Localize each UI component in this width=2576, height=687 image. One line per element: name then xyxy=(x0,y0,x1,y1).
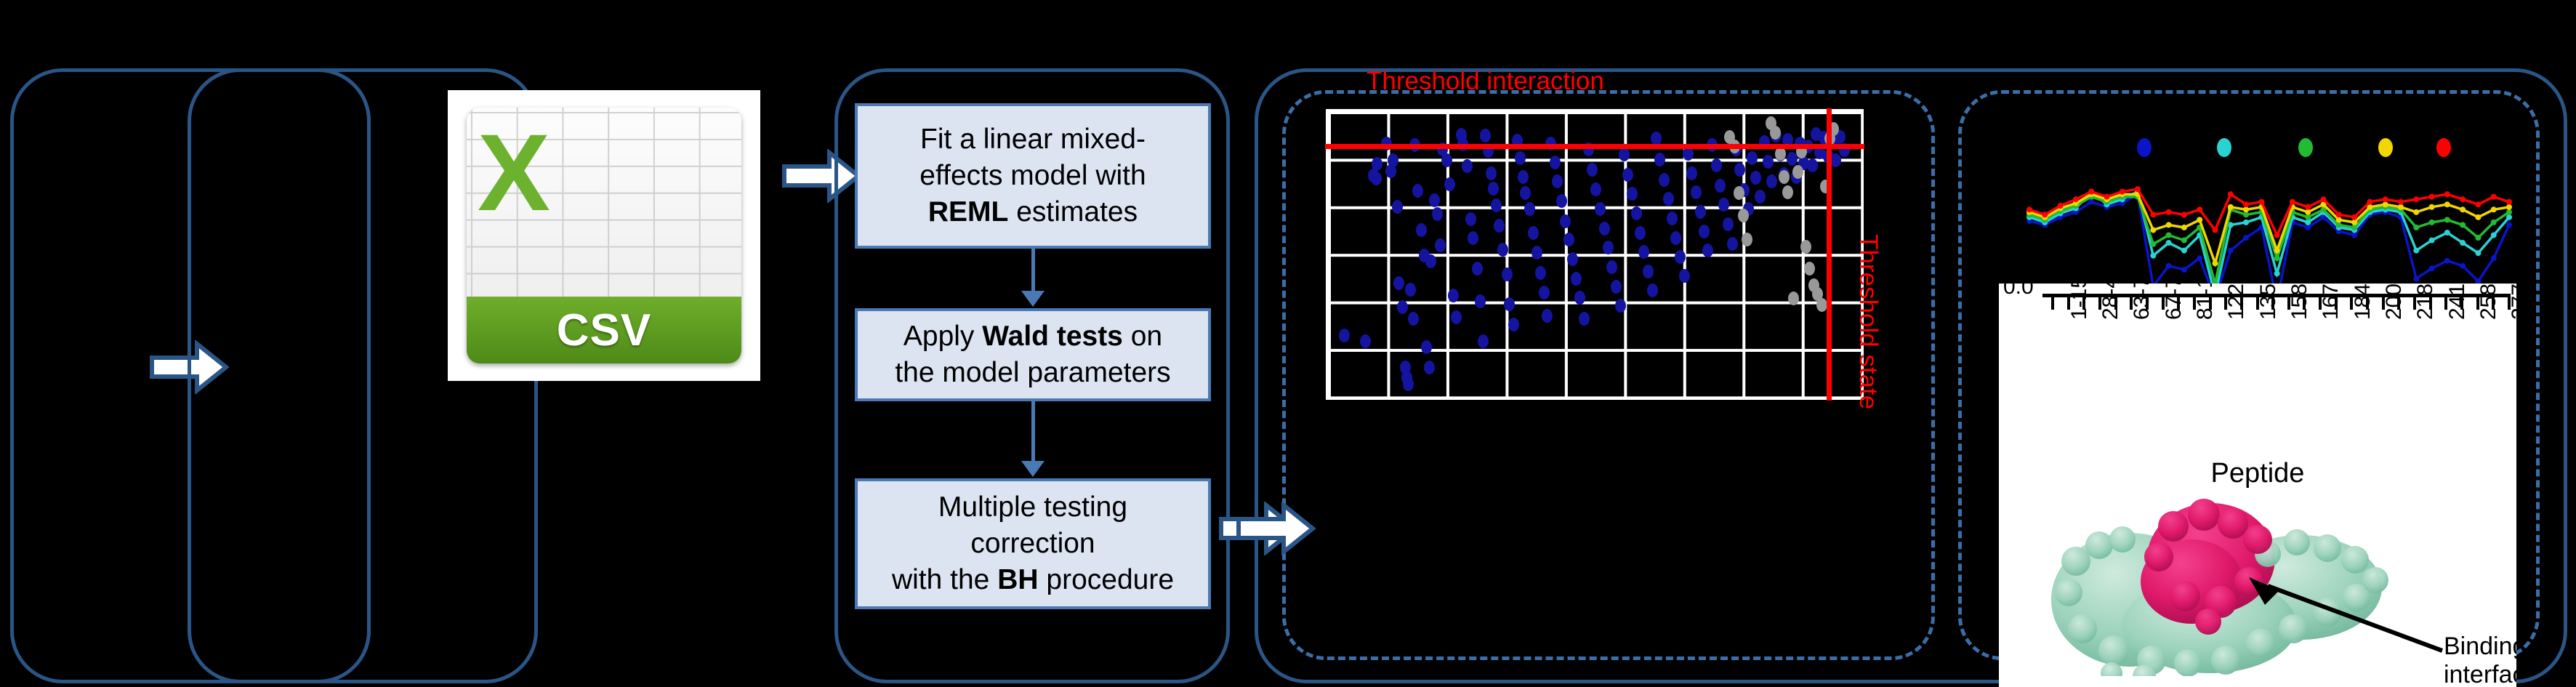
threshold-state-line xyxy=(1827,108,1832,401)
scatter-point xyxy=(1412,184,1423,198)
legend-dot-4 xyxy=(2378,138,2393,157)
scatter-point xyxy=(1542,309,1553,323)
line-marker xyxy=(2305,209,2311,215)
line-marker xyxy=(2274,270,2280,276)
scatter-point xyxy=(1491,198,1502,212)
scatter-point xyxy=(1788,292,1799,305)
scatter-point xyxy=(1502,268,1513,281)
step-fit-line1: Fit a linear mixed- xyxy=(920,124,1146,155)
line-marker xyxy=(2444,191,2450,197)
scatter-point xyxy=(1734,186,1744,200)
line-marker xyxy=(2181,248,2187,254)
line-marker xyxy=(2491,220,2497,225)
line-marker xyxy=(2243,220,2249,225)
scatter-point xyxy=(1468,231,1478,245)
scatter-point xyxy=(1830,153,1841,167)
binding-annot-line2: interface xyxy=(2444,661,2516,687)
x-axis-tick-labels: 1-1528-4463-7367-7581-101122-129135-1441… xyxy=(1999,284,2516,458)
scatter-point xyxy=(1747,151,1758,165)
line-marker xyxy=(2351,220,2357,225)
step-wald-bold: Wald tests xyxy=(982,321,1123,352)
line-marker xyxy=(2212,260,2218,266)
peptide-tick-label: 184-199 xyxy=(2351,284,2375,320)
arrow-4-icon xyxy=(1236,502,1316,555)
x-axis-title: Peptide xyxy=(1999,458,2516,489)
scatter-point xyxy=(1679,269,1690,283)
line-marker xyxy=(2491,232,2497,238)
scatter-point xyxy=(1497,243,1508,257)
scatter-point xyxy=(1635,226,1646,240)
legend-dot-5 xyxy=(2436,138,2451,157)
scatter-point xyxy=(1670,231,1681,245)
line-marker xyxy=(2444,230,2450,236)
scatter-point xyxy=(1429,193,1440,207)
step-mt-pre3: with the xyxy=(892,564,997,595)
scatter-point xyxy=(1779,170,1790,184)
line-marker xyxy=(2026,206,2032,212)
line-marker xyxy=(2166,240,2172,246)
scatter-point xyxy=(1702,244,1713,257)
peptide-tick-label: 200-214 xyxy=(2382,284,2407,320)
binding-interface-arrow-icon xyxy=(2239,574,2457,662)
line-marker xyxy=(2181,267,2187,273)
line-marker xyxy=(2088,199,2094,205)
scatter-point xyxy=(1638,245,1649,259)
connector-2 xyxy=(1031,401,1035,462)
line-marker xyxy=(2383,201,2388,207)
line-marker xyxy=(2413,276,2419,281)
peptide-tick-label: 241-257 xyxy=(2445,284,2470,320)
line-marker xyxy=(2429,238,2435,244)
threshold-interaction-line xyxy=(1325,144,1864,149)
scatter-point xyxy=(1486,166,1497,180)
line-marker xyxy=(2228,248,2234,254)
scatter-point xyxy=(1478,334,1489,348)
threshold-state-label: Threshold state xyxy=(1853,234,1883,409)
scatter-point xyxy=(1715,179,1726,193)
scatter-point xyxy=(1574,291,1585,305)
line-marker xyxy=(2383,196,2388,202)
peptide-tick-label: 158-166 xyxy=(2287,284,2312,320)
line-marker xyxy=(2429,204,2435,210)
scatter-point xyxy=(1448,289,1459,302)
scatter-point xyxy=(1603,241,1614,254)
step-mt-line1: Multiple testing xyxy=(938,491,1127,523)
scatter-point xyxy=(1734,163,1745,177)
scatter-point xyxy=(1686,166,1697,180)
scatter-point xyxy=(1631,206,1642,220)
scatter-point xyxy=(1339,329,1350,342)
step-wald-line2: the model parameters xyxy=(895,357,1170,388)
threshold-interaction-label: Threshold interaction xyxy=(1367,67,1604,96)
scatter-point xyxy=(1615,299,1626,313)
scatter-point xyxy=(1475,294,1486,308)
line-marker xyxy=(2460,263,2466,269)
line-marker xyxy=(2491,206,2497,212)
step-mt-post3: procedure xyxy=(1039,564,1174,595)
scatter-point xyxy=(1742,233,1752,246)
line-marker xyxy=(2197,206,2202,212)
scatter-point xyxy=(1667,212,1678,225)
scatter-point xyxy=(1528,226,1539,240)
line-marker xyxy=(2398,199,2404,205)
line-marker xyxy=(2429,220,2435,225)
line-marker xyxy=(2475,201,2481,207)
line-marker xyxy=(2460,240,2466,246)
peptide-tick-label: 277-284 xyxy=(2508,284,2516,320)
scatter-point xyxy=(1792,165,1803,179)
scatter-point xyxy=(1405,283,1416,297)
line-marker xyxy=(2429,265,2435,271)
peptide-tick-label: 122-129 xyxy=(2224,284,2249,320)
step-wald-post: on xyxy=(1123,321,1162,352)
peptide-tick-label: 1-15 xyxy=(2067,284,2092,320)
scatter-point xyxy=(1711,158,1722,172)
connector-2-arrowhead xyxy=(1021,461,1045,477)
line-marker xyxy=(2367,199,2372,205)
line-marker xyxy=(2212,227,2218,233)
scatter-point xyxy=(1647,284,1658,297)
line-marker xyxy=(2321,196,2327,202)
legend-dot-2 xyxy=(2217,138,2231,157)
scatter-point xyxy=(1462,159,1473,173)
peptide-tick-label: 258-266 xyxy=(2476,284,2501,320)
line-marker xyxy=(2506,199,2512,205)
line-marker xyxy=(2243,235,2249,241)
scatter-point xyxy=(1518,170,1529,184)
binding-interface-annotation: Binding interface xyxy=(2444,632,2516,687)
line-marker xyxy=(2181,238,2187,244)
line-marker xyxy=(2413,196,2419,202)
scatter-point xyxy=(1416,223,1427,237)
scatter-point xyxy=(1403,377,1414,391)
peptide-tick-label: 218-237 xyxy=(2413,284,2438,320)
peptide-tick-label: 81-101 xyxy=(2193,284,2218,320)
scatter-point xyxy=(1816,298,1827,312)
csv-file-icon: X CSV xyxy=(448,90,760,381)
line-marker xyxy=(2120,189,2125,195)
line-marker xyxy=(2305,220,2311,225)
scatter-point xyxy=(1550,156,1561,169)
scatter-point xyxy=(1622,168,1633,182)
line-marker xyxy=(2336,217,2342,222)
legend-dot-3 xyxy=(2298,138,2313,157)
line-marker xyxy=(2274,255,2280,261)
scatter-point xyxy=(1451,310,1462,324)
line-marker xyxy=(2135,186,2141,192)
scatter-point xyxy=(1421,340,1432,354)
line-marker xyxy=(2413,209,2419,215)
scatter-point xyxy=(1480,129,1491,142)
line-marker xyxy=(2305,204,2311,210)
scatter-point xyxy=(1723,217,1734,231)
line-marker xyxy=(2491,255,2497,261)
scatter-point xyxy=(1560,214,1571,228)
line-marker xyxy=(2166,263,2172,269)
line-marker xyxy=(2243,212,2249,217)
scatter-point xyxy=(1388,153,1398,167)
line-marker xyxy=(2274,248,2280,254)
line-marker xyxy=(2166,209,2172,215)
scatter-point xyxy=(1727,237,1738,251)
scatter-point xyxy=(1397,300,1408,314)
scatter-point xyxy=(1663,192,1674,206)
scatter-point xyxy=(1782,185,1793,199)
scatter-point xyxy=(1535,266,1546,280)
line-marker xyxy=(2150,241,2156,247)
scatter-point xyxy=(1590,182,1601,196)
line-chart-legend xyxy=(2137,138,2500,160)
scatter-point xyxy=(1539,286,1550,300)
peptide-tick-label: 63-73 xyxy=(2130,284,2154,320)
line-marker xyxy=(2444,258,2450,264)
scatter-point xyxy=(1750,171,1761,185)
scatter-point xyxy=(1531,246,1542,260)
line-marker xyxy=(2104,194,2109,200)
scatter-point xyxy=(1441,153,1452,167)
line-marker xyxy=(2351,232,2357,238)
scatter-point xyxy=(1392,200,1403,214)
scatter-point xyxy=(1360,334,1371,348)
line-marker xyxy=(2058,203,2064,209)
line-marker xyxy=(2506,222,2512,228)
scatter-point xyxy=(1465,212,1476,226)
scatter-point xyxy=(1520,186,1531,200)
scatter-point xyxy=(1508,318,1519,332)
line-marker xyxy=(2351,214,2357,220)
line-marker xyxy=(2088,189,2094,195)
scatter-point xyxy=(1595,202,1606,216)
line-marker xyxy=(2444,201,2450,207)
scatter-point xyxy=(1804,262,1815,276)
scatter-point xyxy=(1611,280,1622,294)
legend-dot-1 xyxy=(2137,138,2152,157)
scatter-point xyxy=(1571,272,1582,286)
line-marker xyxy=(2506,204,2512,210)
line-marker xyxy=(2243,206,2249,212)
scatter-point xyxy=(1488,182,1499,196)
scatter-point xyxy=(1695,205,1706,219)
scatter-point xyxy=(1552,174,1563,188)
line-marker xyxy=(2475,214,2481,220)
line-marker xyxy=(2444,217,2450,222)
scatter-point xyxy=(1444,177,1455,191)
step-mt-line2: correction xyxy=(970,528,1095,559)
line-marker xyxy=(2166,232,2172,238)
line-marker xyxy=(2336,212,2342,217)
scatter-point xyxy=(1515,151,1526,165)
binding-annot-line1: Binding xyxy=(2444,632,2516,661)
line-marker xyxy=(2429,194,2435,200)
line-marker xyxy=(2197,255,2202,261)
step-wald-tests-box: Apply Wald tests on the model parameters xyxy=(855,308,1211,401)
scatter-point xyxy=(1563,233,1574,246)
step-mt-bold: BH xyxy=(997,564,1038,595)
scatter-point xyxy=(1435,238,1446,252)
step-wald-pre: Apply xyxy=(903,321,982,352)
line-marker xyxy=(2460,196,2466,202)
scatter-point xyxy=(1425,254,1436,268)
connector-1 xyxy=(1031,249,1035,292)
line-marker xyxy=(2243,201,2249,207)
line-marker xyxy=(2336,222,2342,228)
scatter-point xyxy=(1718,198,1729,212)
scatter-point xyxy=(1556,194,1567,208)
line-marker xyxy=(2460,222,2466,228)
connector-1-arrowhead xyxy=(1021,291,1045,307)
step-multiple-testing-box: Multiple testing correction with the BH … xyxy=(855,478,1211,609)
scatter-point xyxy=(1424,361,1435,374)
scatter-point xyxy=(1654,153,1665,166)
line-marker xyxy=(2305,225,2311,230)
peptide-tick-label: 28-44 xyxy=(2098,284,2123,320)
line-marker xyxy=(2413,225,2419,230)
volcano-scatter-plot xyxy=(1326,109,1864,400)
peptide-figure-card: 0.0 1-1528-4463-7367-7581-101122-129135-… xyxy=(1999,284,2516,687)
csv-x-letter: X xyxy=(478,118,587,266)
line-marker xyxy=(2228,204,2234,210)
scatter-point xyxy=(1599,222,1610,236)
step-fit-model-box: Fit a linear mixed- effects model with R… xyxy=(855,103,1211,249)
line-marker xyxy=(2398,204,2404,210)
line-marker xyxy=(2475,250,2481,256)
line-marker xyxy=(2274,232,2280,238)
scatter-point xyxy=(1408,312,1419,326)
scatter-point xyxy=(1807,158,1818,172)
line-marker xyxy=(2506,209,2512,215)
line-marker xyxy=(2491,194,2497,200)
scatter-point xyxy=(1567,252,1578,266)
step-fit-bold: REML xyxy=(928,196,1009,228)
line-marker xyxy=(2506,214,2512,220)
scatter-point xyxy=(1606,260,1617,274)
scatter-point xyxy=(1643,265,1654,278)
peptide-tick-label: 67-75 xyxy=(2162,284,2186,320)
line-marker xyxy=(2042,212,2048,217)
scatter-point xyxy=(1699,225,1710,238)
scatter-point xyxy=(1494,219,1505,233)
scatter-point xyxy=(1627,187,1638,201)
step-fit-line2: effects model with xyxy=(919,160,1146,191)
scatter-point xyxy=(1800,240,1811,254)
scatter-point xyxy=(1579,312,1590,326)
scatter-point xyxy=(1371,172,1382,185)
line-marker xyxy=(2228,191,2234,197)
scatter-point xyxy=(1372,157,1382,171)
line-marker xyxy=(2351,225,2357,230)
line-marker xyxy=(2305,214,2311,220)
line-marker xyxy=(2258,199,2264,205)
scatter-point xyxy=(1763,155,1774,169)
scatter-point xyxy=(1472,262,1483,276)
step-fit-line3: estimates xyxy=(1008,196,1138,228)
line-marker xyxy=(2166,222,2172,228)
scatter-point xyxy=(1766,174,1777,188)
peptide-tick-label: 135-144 xyxy=(2256,284,2281,320)
csv-format-label: CSV xyxy=(557,305,651,356)
scatter-point xyxy=(1432,207,1443,221)
line-marker xyxy=(2413,248,2419,254)
line-marker xyxy=(2073,196,2079,202)
line-marker xyxy=(2475,235,2481,241)
scatter-point xyxy=(1587,163,1598,177)
scatter-point xyxy=(1691,185,1702,199)
scatter-point xyxy=(1675,250,1686,264)
line-marker xyxy=(2290,199,2295,205)
peptide-tick-label: 167-180 xyxy=(2319,284,2343,320)
scatter-point xyxy=(1504,297,1515,311)
scatter-point xyxy=(1659,173,1670,187)
line-marker xyxy=(2150,212,2156,217)
scatter-point xyxy=(1393,276,1404,290)
scatter-point xyxy=(1524,202,1535,216)
line-marker xyxy=(2181,225,2187,230)
line-marker xyxy=(2197,217,2202,222)
scatter-points-layer xyxy=(1328,111,1861,398)
line-marker xyxy=(2460,206,2466,212)
line-marker xyxy=(2150,227,2156,233)
scatter-point xyxy=(1619,148,1630,161)
line-marker xyxy=(2181,212,2187,217)
line-marker xyxy=(2150,253,2156,259)
scatter-point xyxy=(1738,209,1749,222)
scatter-point xyxy=(1755,190,1766,204)
